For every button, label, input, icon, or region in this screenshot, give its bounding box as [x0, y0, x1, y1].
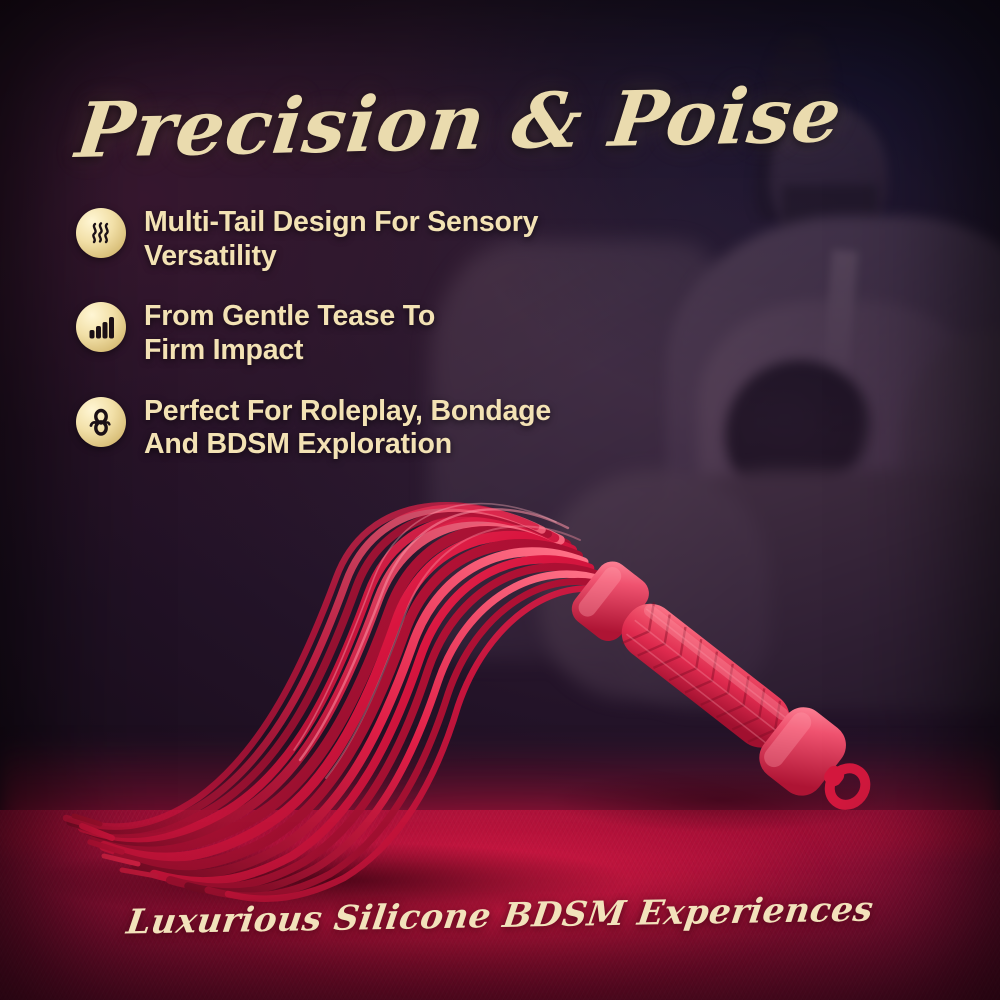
- page-title: Precision & Poise: [72, 70, 847, 175]
- content-layer: Precision & Poise Multi-Tail Design For …: [0, 0, 1000, 1000]
- feature-label: Multi-Tail Design For Sensory Versatilit…: [144, 205, 538, 273]
- promo-banner: Precision & Poise Multi-Tail Design For …: [0, 0, 1000, 1000]
- feature-item: Multi-Tail Design For Sensory Versatilit…: [76, 205, 696, 273]
- tagline: Luxurious Silicone BDSM Experiences: [0, 887, 1000, 944]
- rope-knot-icon: [76, 397, 126, 447]
- feature-line-2: Firm Impact: [144, 334, 435, 368]
- feature-line-2: And BDSM Exploration: [144, 428, 551, 462]
- feature-line-1: From Gentle Tease To: [144, 300, 435, 332]
- wavy-tails-icon: [76, 208, 126, 258]
- feature-label: From Gentle Tease To Firm Impact: [144, 299, 435, 367]
- feature-line-2: Versatility: [144, 240, 538, 274]
- feature-list: Multi-Tail Design For Sensory Versatilit…: [76, 205, 696, 488]
- feature-item: From Gentle Tease To Firm Impact: [76, 299, 696, 367]
- intensity-bars-icon: [76, 302, 126, 352]
- feature-item: Perfect For Roleplay, Bondage And BDSM E…: [76, 394, 696, 462]
- feature-line-1: Perfect For Roleplay, Bondage: [144, 395, 551, 427]
- feature-label: Perfect For Roleplay, Bondage And BDSM E…: [144, 394, 551, 462]
- feature-line-1: Multi-Tail Design For Sensory: [144, 206, 538, 238]
